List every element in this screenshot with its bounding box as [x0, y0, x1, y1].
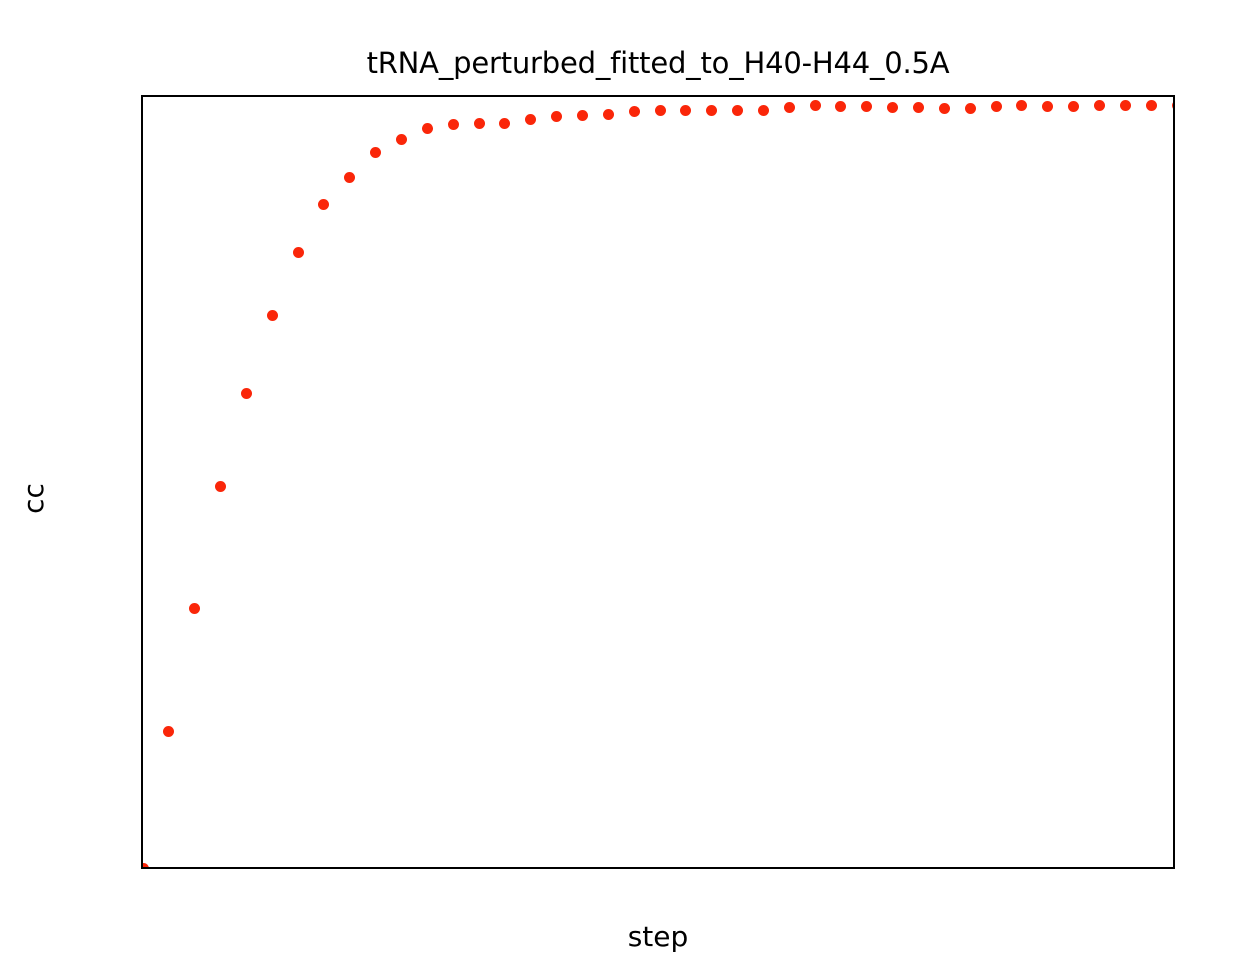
data-point: [1120, 100, 1131, 111]
data-point: [525, 114, 536, 125]
data-point: [370, 147, 381, 158]
y-tick-mark: [141, 165, 143, 167]
y-tick-mark: [141, 732, 143, 734]
y-tick-mark: [141, 637, 143, 639]
chart-title: tRNA_perturbed_fitted_to_H40-H44_0.5A: [141, 46, 1175, 80]
data-point: [655, 105, 666, 116]
data-point: [1172, 100, 1176, 111]
data-point: [913, 102, 924, 113]
data-point: [810, 100, 821, 111]
data-point: [965, 103, 976, 114]
data-point: [835, 101, 846, 112]
y-tick-mark: [141, 354, 143, 356]
data-point: [861, 101, 872, 112]
data-point: [991, 101, 1002, 112]
data-point: [758, 105, 769, 116]
data-point: [1068, 101, 1079, 112]
x-tick-mark: [660, 867, 662, 869]
data-point: [680, 105, 691, 116]
x-tick-mark: [402, 867, 404, 869]
data-point: [344, 172, 355, 183]
data-point: [1016, 100, 1027, 111]
x-tick-mark: [531, 867, 533, 869]
data-point: [551, 111, 562, 122]
data-point: [577, 110, 588, 121]
data-point: [293, 247, 304, 258]
data-point: [396, 134, 407, 145]
data-point: [474, 118, 485, 129]
data-point: [784, 102, 795, 113]
x-tick-mark: [143, 867, 145, 869]
data-point: [706, 105, 717, 116]
x-tick-mark: [272, 867, 274, 869]
y-tick-mark: [141, 826, 143, 828]
data-point: [163, 726, 174, 737]
x-tick-mark: [1048, 867, 1050, 869]
data-point: [603, 109, 614, 120]
x-axis-label: step: [141, 920, 1175, 953]
data-point: [215, 481, 226, 492]
data-point: [318, 199, 329, 210]
chart-figure: tRNA_perturbed_fitted_to_H40-H44_0.5A cc…: [0, 0, 1246, 965]
data-point: [448, 119, 459, 130]
data-point: [887, 102, 898, 113]
data-point: [141, 863, 149, 869]
y-axis-label: cc: [17, 483, 50, 514]
data-point: [1146, 100, 1157, 111]
x-tick-mark: [789, 867, 791, 869]
plot-area: 0.540.560.580.600.620.640.660.68 0250005…: [141, 95, 1175, 869]
data-point: [629, 106, 640, 117]
data-point: [189, 603, 200, 614]
y-tick-mark: [141, 260, 143, 262]
data-point: [499, 118, 510, 129]
data-point: [267, 310, 278, 321]
data-point: [1094, 100, 1105, 111]
data-point: [1042, 101, 1053, 112]
data-point: [422, 123, 433, 134]
y-tick-mark: [141, 449, 143, 451]
data-point: [939, 103, 950, 114]
data-point: [732, 105, 743, 116]
x-tick-mark: [919, 867, 921, 869]
y-tick-mark: [141, 543, 143, 545]
data-point: [241, 388, 252, 399]
